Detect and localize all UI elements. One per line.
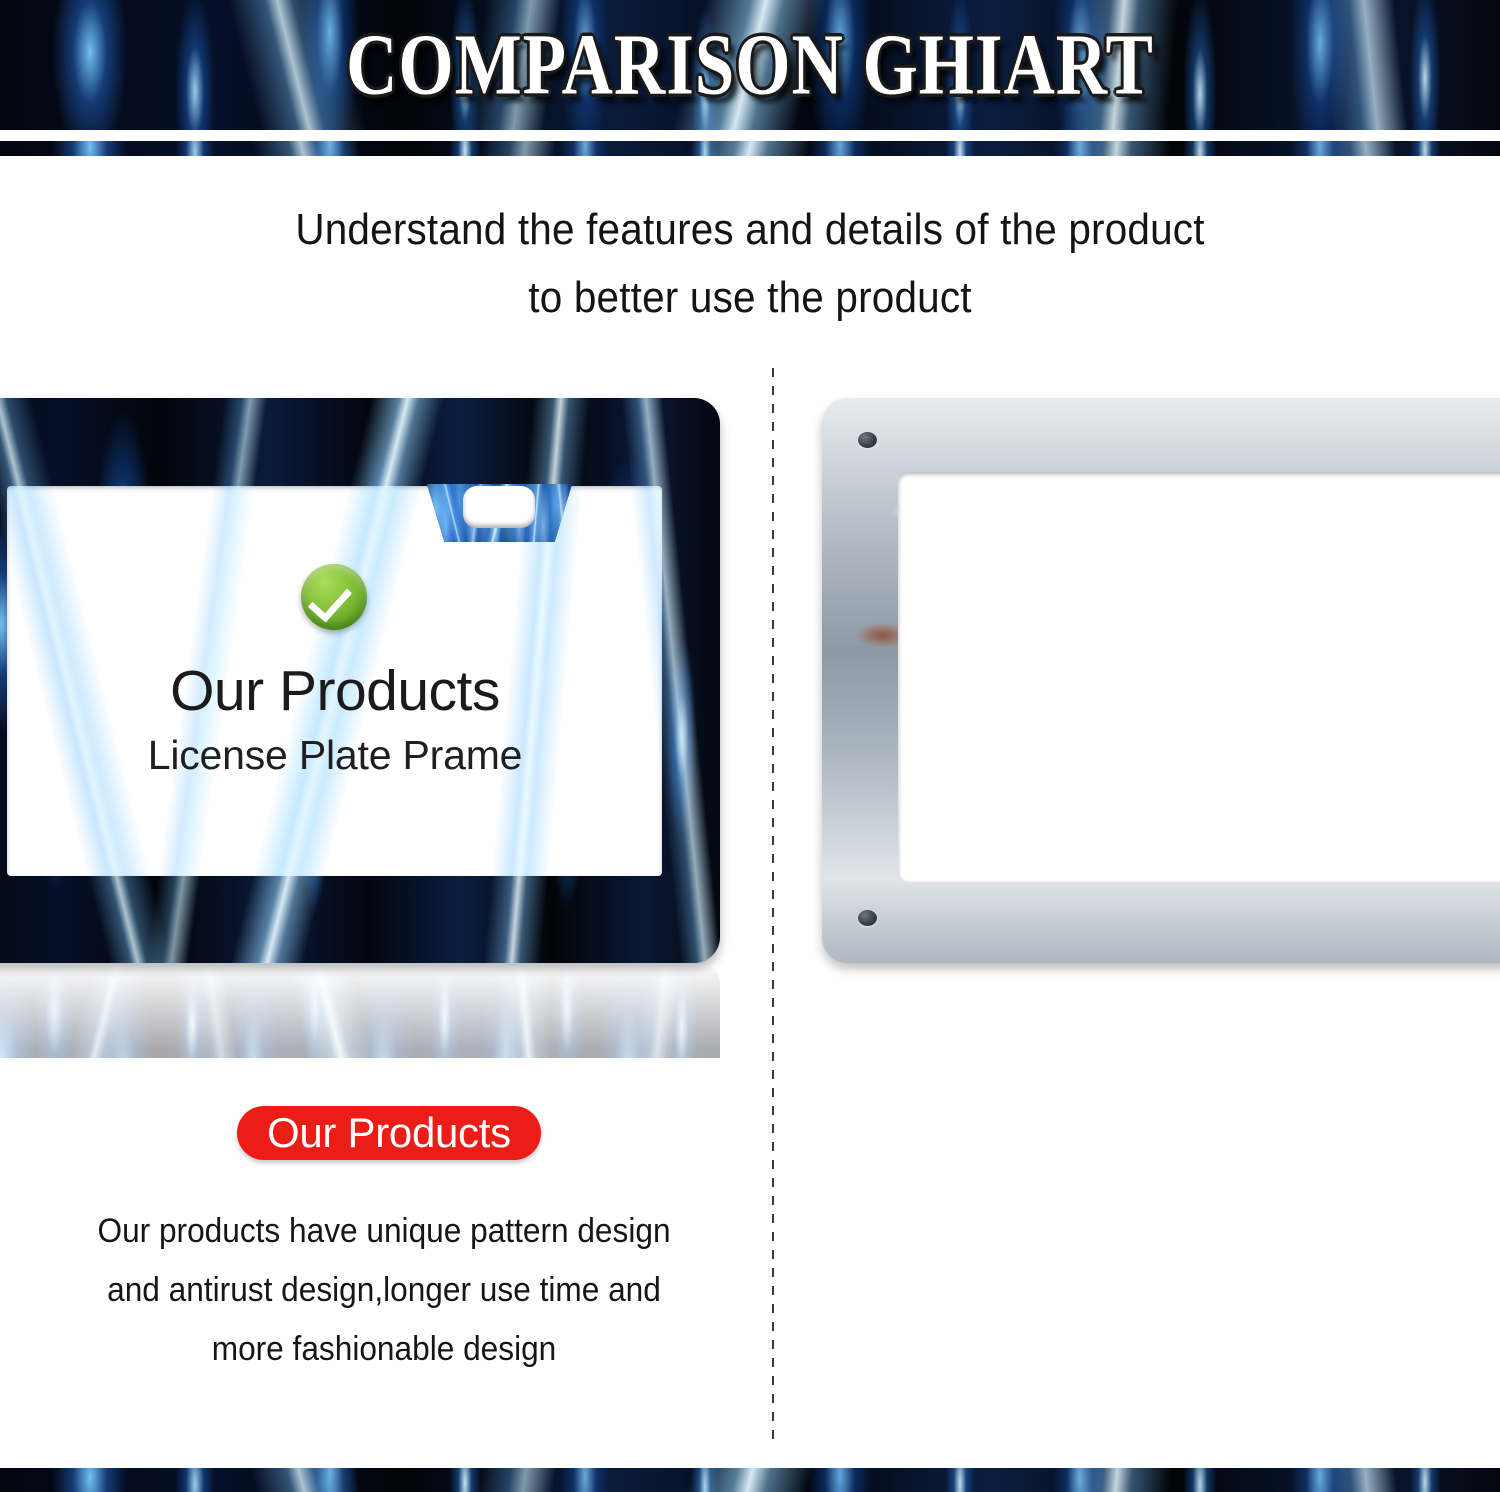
description-line: more fashionable design [59,1320,710,1379]
subtitle-block: Understand the features and details of t… [60,196,1440,332]
subtitle-line-1: Understand the features and details of t… [60,196,1440,264]
product-reflection [0,963,720,1058]
column-heading-our-products: Our Products [0,658,670,724]
header-accent-stripe [0,141,1500,156]
description-our-products: Our products have unique pattern design … [59,1202,710,1379]
status-badge-our-products: Our Products [237,1106,541,1160]
subtitle-line-2: to better use the product [60,264,1440,332]
description-line: and antirust design,longer use time and [59,1261,710,1320]
footer-banner [0,1468,1500,1492]
vertical-dashed-divider [772,368,774,1444]
screw-hole-top-left-icon [858,432,877,448]
column-subheading-our-products: License Plate Prame [0,732,670,779]
screw-hole-bottom-left-icon [858,910,877,926]
plate-frame-notch-cutout [463,486,535,528]
rusty-chrome-license-plate-frame [822,398,1500,963]
plate-frame-opening [898,472,1500,882]
product-image-ordintry [822,398,1500,978]
page-title: COMPARISON GHIART [30,0,1470,142]
green-check-circle-icon [301,564,367,630]
description-line: Our products have unique pattern design [59,1202,710,1261]
